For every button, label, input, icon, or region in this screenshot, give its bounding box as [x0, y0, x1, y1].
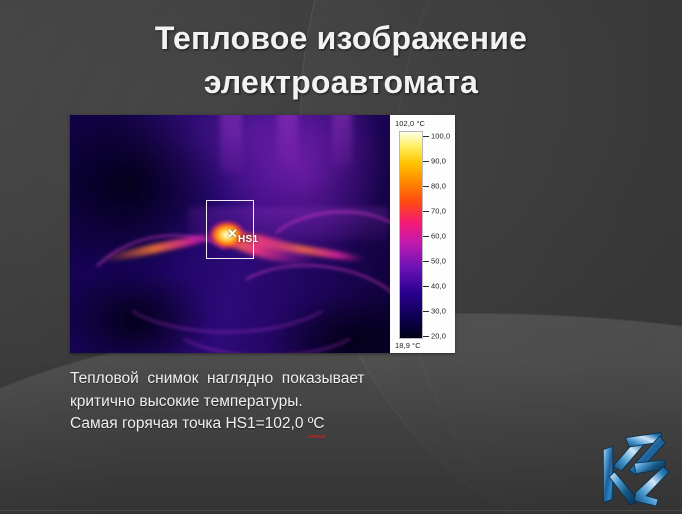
presentation-slide: Тепловое изображение электроавтомата — [0, 0, 682, 514]
scale-min-label: 18,9 °C — [395, 341, 421, 350]
slide-title-line-1: Тепловое изображение — [155, 20, 527, 56]
scale-max-label: 102,0 °C — [395, 119, 425, 128]
scale-tick-mark — [423, 211, 429, 212]
scale-tick-mark — [423, 336, 429, 337]
scale-tick-label: 30,0 — [431, 307, 446, 316]
thermal-infrared-photo: ✕ HS1 — [70, 115, 390, 353]
scale-tick-label: 90,0 — [431, 157, 446, 166]
scale-tick-label: 70,0 — [431, 207, 446, 216]
scale-tick-mark — [423, 236, 429, 237]
scale-tick-mark — [423, 286, 429, 287]
thermal-panel-shape — [332, 115, 352, 167]
misspelled-unit: ºC — [308, 413, 325, 436]
scale-tick-mark — [423, 136, 429, 137]
body-line-1: Тепловой снимок наглядно показывает — [70, 368, 540, 391]
thermal-panel-shape — [278, 115, 298, 169]
temperature-scale-panel: 102,0 °C 100,090,080,070,060,050,040,030… — [390, 115, 455, 353]
scale-tick-mark — [423, 311, 429, 312]
scale-tick-label: 40,0 — [431, 282, 446, 291]
scale-tick-label: 60,0 — [431, 232, 446, 241]
hotspot-label: HS1 — [238, 234, 258, 245]
thermal-image-block: ✕ HS1 102,0 °C 100,090,080,070,060,050,0… — [70, 115, 455, 353]
slide-title: Тепловое изображение электроавтомата — [60, 16, 622, 104]
scale-tick-mark — [423, 261, 429, 262]
organization-logo — [586, 424, 672, 506]
scale-tick-label: 20,0 — [431, 332, 446, 341]
scale-tick-label: 50,0 — [431, 257, 446, 266]
slide-body-text: Тепловой снимок наглядно показывает крит… — [70, 368, 540, 436]
body-line-3-text: Самая горячая точка HS1=102,0 — [70, 415, 308, 432]
temperature-color-bar — [399, 131, 423, 339]
scale-tick-mark — [423, 161, 429, 162]
thermal-panel-shape — [220, 115, 242, 173]
scale-tick-label: 100,0 — [431, 132, 450, 141]
slide-title-line-2: электроавтомата — [204, 64, 478, 100]
scale-tick-label: 80,0 — [431, 182, 446, 191]
body-line-3: Самая горячая точка HS1=102,0 ºC — [70, 413, 540, 436]
body-line-2: критично высокие температуры. — [70, 391, 540, 414]
scale-tick-mark — [423, 186, 429, 187]
